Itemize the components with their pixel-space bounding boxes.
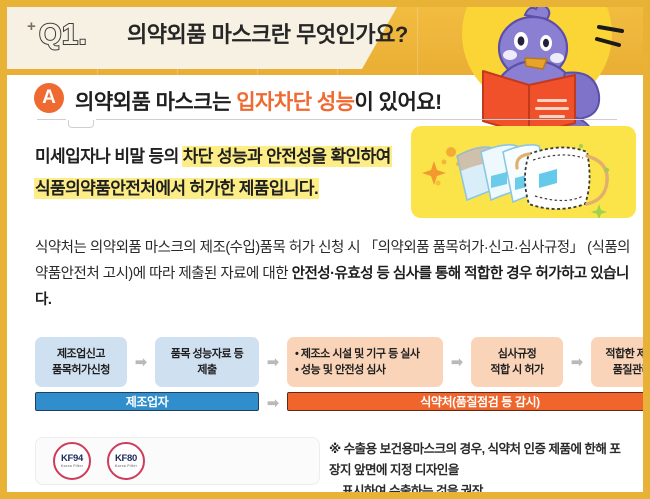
footnote-line-1: ※ 수출용 보건용마스크의 경우, 식약처 인증 제품에 한해 포장지 앞면에 … — [329, 442, 620, 477]
kf-badge-number: KF94 — [61, 454, 83, 464]
flow-bar-arrow-icon: ➡ — [265, 395, 281, 411]
infographic-page: + Q1. 의약외품 마스크란 무엇인가요? — [0, 0, 650, 499]
flow-arrow-icon: ➡ — [265, 354, 281, 370]
flow-step-line: 품목허가신청 — [52, 362, 110, 378]
key-statement: 미세입자나 비말 등의 차단 성능과 안전성을 확인하여 식품의약품안전처에서 … — [35, 141, 395, 205]
kf-badge-subtext: Korea Filter — [115, 464, 137, 469]
flow-arrow-icon: ➡ — [569, 354, 585, 370]
kf-badge-number: KF80 — [115, 454, 137, 464]
answer-badge: A — [34, 83, 64, 113]
plus-icon: + — [27, 19, 36, 34]
body-paragraph: 식약처는 의약외품 마스크의 제조(수입)품목 허가 신청 시 「의약외품 품목… — [35, 235, 633, 313]
answer-text-pre: 의약외품 마스크는 — [75, 91, 236, 114]
mask-illustration-panel — [411, 126, 636, 218]
footnote-text: ※ 수출용 보건용마스크의 경우, 식약처 인증 제품에 한해 포장지 앞면에 … — [329, 439, 629, 499]
flow-step-review-approval: 심사규정 적합 시 허가 — [471, 337, 563, 387]
flow-bar-manufacturer: 제조업자 — [35, 392, 259, 411]
footnote-line-2: 표시하여 수출하는 것을 권장 — [329, 481, 629, 499]
divider-line — [37, 119, 617, 120]
statement-highlight-2: 식품의약품안전처에서 허가한 제품입니다. — [35, 179, 318, 198]
divider-notch-mask — [66, 117, 96, 120]
flow-step-line: 품목 성능자료 등 — [171, 346, 243, 362]
answer-text-highlight: 입자차단 성능 — [236, 91, 354, 114]
statement-plain: 미세입자나 비말 등의 — [35, 147, 183, 166]
paragraph-seg-3: 안전성·유효성 등 심사를 통해 적합한 경우 — [292, 266, 532, 282]
flow-bar-mfds: 식약처(품질점검 등 감시) — [287, 392, 650, 411]
flow-arrow-icon: ➡ — [449, 354, 465, 370]
kf80-badge: KF80 Korea Filter — [107, 442, 145, 480]
question-title: 의약외품 마스크란 무엇인가요? — [127, 24, 408, 46]
question-number: Q1. — [39, 21, 87, 50]
flow-step-line: 적합 시 허가 — [490, 362, 543, 378]
flow-step-line: 제출 — [197, 362, 216, 378]
kf-badge-subtext: Korea Filter — [61, 464, 83, 469]
process-flowchart: 제조업신고 품목허가신청 ➡ 품목 성능자료 등 제출 ➡ • 제조소 시설 및… — [35, 337, 631, 409]
bird-mascot — [447, 3, 650, 133]
flow-step-line: 적합한 제조, — [605, 346, 650, 362]
flow-step-line: 제조업신고 — [57, 346, 105, 362]
flow-step-line: • 제조소 시설 및 기구 등 실사 — [295, 346, 420, 362]
answer-line: 의약외품 마스크는 입자차단 성능이 있어요! — [75, 86, 442, 116]
paragraph-seg-1: 식약처는 의약외품 마스크의 제조(수입)품목 허가 신청 시 「의약외품 품목… — [35, 240, 584, 256]
flow-step-line: 심사규정 — [498, 346, 536, 362]
flow-step-facility-inspection: • 제조소 시설 및 기구 등 실사 • 성능 및 안전성 심사 — [287, 337, 443, 387]
flow-step-quality-control: 적합한 제조, 품질관리 — [591, 337, 650, 387]
kf-badge-box: KF94 Korea Filter KF80 Korea Filter — [35, 437, 320, 485]
flow-step-line: • 성능 및 안전성 심사 — [295, 362, 386, 378]
flow-step-submit-data: 품목 성능자료 등 제출 — [155, 337, 259, 387]
answer-badge-letter: A — [34, 83, 64, 113]
divider-notch — [65, 118, 97, 132]
flow-arrow-icon: ➡ — [133, 354, 149, 370]
flow-step-line: 품질관리 — [613, 362, 650, 378]
statement-highlight-1: 차단 성능과 안전성을 확인하여 — [183, 147, 391, 166]
kf94-badge: KF94 Korea Filter — [53, 442, 91, 480]
flow-step-manufacturer-report: 제조업신고 품목허가신청 — [35, 337, 127, 387]
answer-text-post: 이 있어요! — [355, 91, 442, 114]
